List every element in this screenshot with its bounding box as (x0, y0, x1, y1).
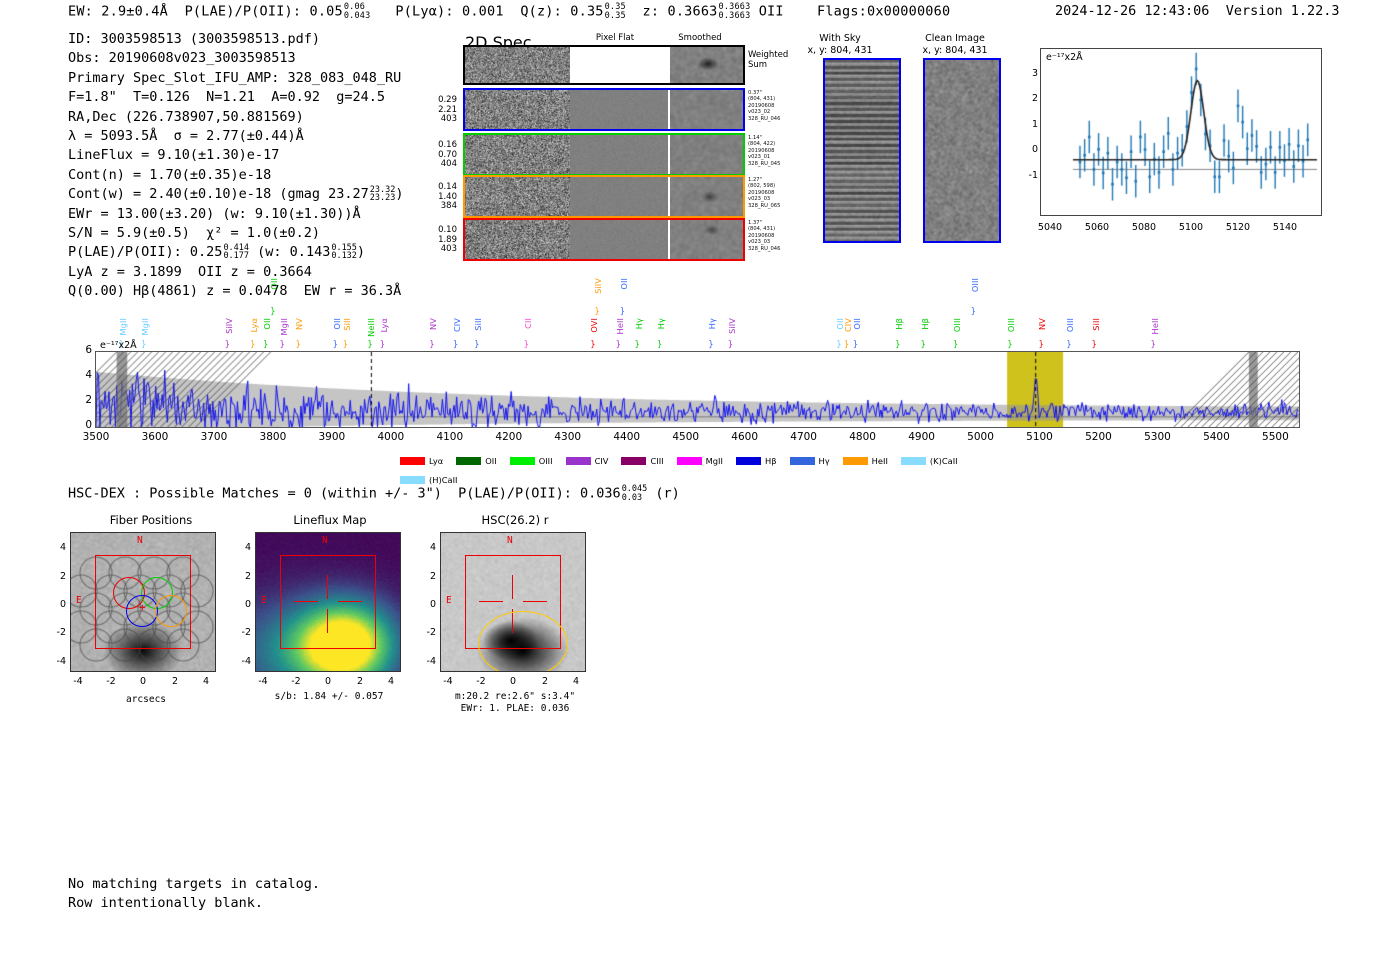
fiber-1-right-labels: 0.37"(804, 431)20190608v023_02328_RU_046 (748, 90, 800, 122)
spectrum-xtick: 5100 (1018, 431, 1062, 443)
footer-line-1: No matching targets in catalog. (68, 875, 320, 894)
legend-swatch (621, 457, 646, 465)
emission-label-CII: CII (523, 318, 533, 329)
legend-swatch (677, 457, 702, 465)
fp-ytick: 0 (48, 599, 66, 610)
legend-swatch (510, 457, 535, 465)
emission-label-MgII: MgII (279, 318, 289, 336)
footer-block: No matching targets in catalog. Row inte… (68, 875, 320, 914)
fiber-2-right-labels: 1.14"(804, 422)20190608v023_01328_RU_045 (748, 135, 800, 167)
emission-bracket: } (620, 307, 625, 317)
emission-label-SiII: SiII (1091, 318, 1101, 331)
emission-label-SiIV: SiIV (224, 318, 234, 334)
legend-item-MgII: MgII (677, 456, 723, 466)
fiber-3-pixelflat-image (570, 177, 668, 216)
emission-bracket: } (1007, 340, 1012, 350)
param-q-line: Q(0.00) Hβ(4861) z = 0.0478 EW r = 36.3Å (68, 282, 403, 301)
hsc-r-source-ellipse (478, 611, 568, 672)
spectrum-xtick: 3700 (192, 431, 236, 443)
fp-ytick: 4 (48, 542, 66, 553)
spectrum-xtick: 3600 (133, 431, 177, 443)
emission-label-CIV: CIV (452, 318, 462, 332)
param-primary-spec: Primary Spec_Slot_IFU_AMP: 328_083_048_R… (68, 69, 403, 88)
spectrum-xtick: 5500 (1253, 431, 1297, 443)
hs-xtick: 0 (503, 676, 523, 687)
line-profile-xtick: 5120 (1218, 222, 1258, 233)
emission-label-Lyα: Lyα (379, 318, 389, 332)
header-qz-range: 0.350.35 (605, 3, 626, 20)
fiber-positions-xlabel: arcsecs (76, 694, 216, 706)
emission-bracket: } (295, 340, 300, 350)
line-profile-ytick: 2 (1022, 93, 1038, 104)
fiber-2-pixelflat-image (570, 135, 668, 174)
lineflux-crosshair-right (338, 601, 362, 602)
spectrum-xtick: 3900 (310, 431, 354, 443)
panel-title-pixelflat: Pixel Flat (570, 33, 660, 43)
line-profile-ytick: 1 (1022, 119, 1038, 130)
line-profile-xtick: 5040 (1030, 222, 1070, 233)
fiber-circle-orange (155, 595, 187, 627)
spectrum-xtick: 4200 (487, 431, 531, 443)
legend-item-Lyα: Lyα (400, 456, 443, 466)
fp-ytick: -4 (48, 656, 66, 667)
lf-ytick: 2 (233, 571, 251, 582)
emission-label-NV: NV (294, 318, 304, 330)
emission-bracket: } (1066, 340, 1071, 350)
legend-label: HeII (872, 456, 888, 466)
fp-xtick: 4 (196, 676, 216, 687)
emission-label-OIII: OIII (970, 278, 980, 292)
fiber-2-smoothed-image (670, 135, 743, 174)
footer-line-2: Row intentionally blank. (68, 894, 320, 913)
param-plae-w-range: 0.1550.132 (331, 244, 357, 261)
fiber-1-2dspec-image (465, 90, 570, 129)
hs-ytick: 4 (418, 542, 436, 553)
param-lineflux: LineFlux = 9.10(±1.30)e-17 (68, 146, 403, 165)
emission-bracket: } (708, 340, 713, 350)
lineflux-crosshair-bottom (327, 609, 328, 633)
emission-bracket: } (270, 307, 275, 317)
emission-bracket: } (141, 340, 146, 350)
emission-label-Hγ: Hγ (707, 318, 717, 329)
line-profile-xtick: 5060 (1077, 222, 1117, 233)
spectrum-ytick: 4 (72, 369, 92, 381)
line-profile-ytick: -1 (1022, 170, 1038, 181)
fiber-3-2dspec-image (465, 177, 570, 216)
emission-label-MgII: MgII (118, 318, 128, 336)
fiber-3-right-labels: 1.27"(802, 598)20190608v023_03328_RU_065 (748, 177, 800, 209)
emission-bracket: } (225, 340, 230, 350)
fiber-4-left-labels: 0.101.89403 (425, 226, 457, 255)
fp-ytick: -2 (48, 627, 66, 638)
lf-xtick: 4 (381, 676, 401, 687)
cutout-title-with-sky: With Sky x, y: 804, 431 (790, 33, 890, 56)
spectrum-xtick: 4800 (841, 431, 885, 443)
fp-xtick: 0 (133, 676, 153, 687)
param-radec: RA,Dec (226.738907,50.881569) (68, 108, 403, 127)
emission-label-OII: OII (332, 318, 342, 330)
emission-label-OIII: OIII (1006, 318, 1016, 332)
header-version: Version 1.22.3 (1226, 3, 1340, 19)
hsc-r-panel: N E (440, 532, 586, 672)
line-profile-xtick: 5080 (1124, 222, 1164, 233)
lineflux-map-compass-n: N (322, 535, 328, 546)
emission-label-Lyα: Lyα (249, 318, 259, 332)
lf-xtick: -2 (286, 676, 306, 687)
fiber-4-pixelflat-image (570, 220, 668, 259)
emission-label-OIII: OIII (952, 318, 962, 332)
fiber-2-2dspec-image (465, 135, 570, 174)
line-profile-xtick: 5140 (1265, 222, 1305, 233)
emission-label-Hγ: Hγ (656, 318, 666, 329)
spectrum-ytick: 0 (72, 419, 92, 431)
legend-item-HeII: HeII (843, 456, 888, 466)
line-profile-plot: e⁻¹⁷x2Å (1040, 48, 1322, 216)
header-z: z: 0.3663 (643, 4, 718, 20)
param-redshifts: LyA z = 3.1899 OII z = 0.3664 (68, 263, 403, 282)
header-timestamp-version: 2024-12-26 12:43:06 Version 1.22.3 (1055, 3, 1340, 19)
legend-item-CIV: CIV (566, 456, 609, 466)
spectrum-legend: LyαOIIOIIICIVCIIIMgIIHβHγHeII(K)CaII(H)C… (400, 450, 1020, 488)
spectrum-unit: e⁻¹⁷x2Å (100, 340, 137, 351)
legend-label: (K)CaII (930, 456, 958, 466)
spectrum-xtick: 5400 (1194, 431, 1238, 443)
legend-swatch (790, 457, 815, 465)
legend-swatch (400, 476, 425, 484)
emission-bracket: } (1092, 340, 1097, 350)
lf-ytick: 0 (233, 599, 251, 610)
emission-label-OII: OII (269, 278, 279, 290)
param-snr-chi2: S/N = 5.9(±0.5) χ² = 1.0(±0.2) (68, 224, 403, 243)
legend-label: (H)CaII (429, 475, 457, 485)
fiber-strip-4 (463, 218, 745, 261)
line-profile-ytick: 0 (1022, 144, 1038, 155)
panel-title-hsc-r: HSC(26.2) r (435, 513, 595, 527)
spectrum-xtick: 4400 (605, 431, 649, 443)
lineflux-map-panel: N E (255, 532, 401, 672)
header-plae-range: 0.060.043 (344, 3, 371, 20)
param-seeing: F=1.8" T=0.126 N=1.21 A=0.92 g=24.5 (68, 88, 403, 107)
spectrum-xtick: 4500 (664, 431, 708, 443)
fiber-strip-2 (463, 133, 745, 176)
fp-ytick: 2 (48, 571, 66, 582)
fiber-2-left-labels: 0.160.70404 (425, 141, 457, 170)
emission-label-OII: OII (619, 278, 629, 290)
panel-title-lineflux-map: Lineflux Map (250, 513, 410, 527)
hs-ytick: -4 (418, 656, 436, 667)
legend-item-OII: OII (456, 456, 496, 466)
spectrum-xtick: 4700 (782, 431, 826, 443)
fiber-positions-panel: N E + (70, 532, 216, 672)
hs-ytick: 0 (418, 599, 436, 610)
emission-bracket: } (594, 307, 599, 317)
emission-label-NV: NV (1037, 318, 1047, 330)
spectrum-xtick: 3500 (74, 431, 118, 443)
spectrum-xtick: 4300 (546, 431, 590, 443)
lf-ytick: -4 (233, 656, 251, 667)
emission-bracket: } (616, 340, 621, 350)
legend-swatch (843, 457, 868, 465)
hs-xtick: 2 (535, 676, 555, 687)
header-qz: Q(z): 0.35 (520, 4, 603, 20)
emission-bracket: } (895, 340, 900, 350)
emission-bracket: } (836, 340, 841, 350)
hsc-crosshair-top (512, 575, 513, 599)
legend-label: OII (485, 456, 496, 466)
lf-ytick: 4 (233, 542, 251, 553)
lineflux-map-caption: s/b: 1.84 +/- 0.057 (258, 691, 400, 703)
weighted-sum-2dspec-image (465, 47, 570, 83)
hscdex-summary: HSC-DEX : Possible Matches = 0 (within +… (68, 485, 680, 502)
line-profile-xtick: 5100 (1171, 222, 1211, 233)
spectrum-xtick: 4000 (369, 431, 413, 443)
fiber-4-smoothed-image (670, 220, 743, 259)
weighted-sum-pixelflat-image (570, 47, 670, 83)
emission-label-OVI: OVI (589, 318, 599, 333)
legend-label: Lyα (429, 456, 443, 466)
emission-label-OII: OII (262, 318, 272, 330)
emission-bracket: } (953, 340, 958, 350)
emission-bracket: } (280, 340, 285, 350)
emission-label-HeII: HeII (615, 318, 625, 334)
emission-bracket: } (380, 340, 385, 350)
legend-swatch (736, 457, 761, 465)
emission-bracket: } (728, 340, 733, 350)
emission-label-Hβ: Hβ (920, 318, 930, 330)
legend-label: CIII (650, 456, 663, 466)
emission-bracket: } (1151, 340, 1156, 350)
emission-bracket: } (367, 340, 372, 350)
legend-item-Hγ: Hγ (790, 456, 830, 466)
hs-xtick: -2 (471, 676, 491, 687)
emission-label-SiIV: SiIV (593, 278, 603, 294)
emission-bracket: } (590, 340, 595, 350)
fp-xtick: -4 (68, 676, 88, 687)
emission-label-OIII: OIII (1065, 318, 1075, 332)
emission-label-Hγ: Hγ (634, 318, 644, 329)
emission-label-SiIV: SiIV (727, 318, 737, 334)
emission-bracket: } (453, 340, 458, 350)
lineflux-crosshair-top (327, 575, 328, 599)
emission-label-OII: OII (852, 318, 862, 330)
spectrum-xtick: 5200 (1077, 431, 1121, 443)
fiber-strip-3 (463, 175, 745, 218)
lineflux-map-compass-e: E (261, 595, 267, 606)
emission-label-SiII: SiII (473, 318, 483, 331)
hs-ytick: -2 (418, 627, 436, 638)
emission-bracket: } (343, 340, 348, 350)
header-flags: Flags:0x00000060 (817, 4, 950, 20)
emission-label-HeII: HeII (1150, 318, 1160, 334)
emission-bracket: } (333, 340, 338, 350)
emission-bracket: } (524, 340, 529, 350)
emission-label-Hβ: Hβ (894, 318, 904, 330)
fiber-positions-compass-n: N (137, 535, 143, 546)
legend-item-OIII: OIII (510, 456, 553, 466)
hsc-r-caption: m:20.2 re:2.6" s:3.4" EWr: 1. PLAE: 0.03… (440, 691, 590, 715)
fiber-3-smoothed-image (670, 177, 743, 216)
header-plae-label: P(LAE)/P(OII): 0.05 (185, 4, 343, 20)
hs-xtick: 4 (566, 676, 586, 687)
emission-bracket: } (853, 340, 858, 350)
fp-xtick: -2 (101, 676, 121, 687)
hs-ytick: 2 (418, 571, 436, 582)
lf-xtick: -4 (253, 676, 273, 687)
param-cont-w-range: 23.3223.23 (370, 186, 396, 203)
hsc-crosshair-left (479, 601, 503, 602)
legend-item-Hβ: Hβ (736, 456, 777, 466)
param-id: ID: 3003598513 (3003598513.pdf) (68, 30, 403, 49)
param-lambda-sigma: λ = 5093.5Å σ = 2.77(±0.44)Å (68, 127, 403, 146)
line-profile-canvas (1041, 49, 1321, 215)
emission-label-MgII: MgII (140, 318, 150, 336)
emission-bracket: } (921, 340, 926, 350)
fp-xtick: 2 (165, 676, 185, 687)
spectrum-xtick: 4900 (900, 431, 944, 443)
fiber-3-left-labels: 0.141.40384 (425, 183, 457, 212)
lineflux-crosshair-left (294, 601, 318, 602)
emission-bracket: } (429, 340, 434, 350)
legend-label: Hγ (819, 456, 830, 466)
legend-swatch (901, 457, 926, 465)
param-cont-n: Cont(n) = 1.70(±0.35)e-18 (68, 166, 403, 185)
hs-xtick: -4 (438, 676, 458, 687)
legend-label: MgII (706, 456, 723, 466)
emission-bracket: } (971, 307, 976, 317)
fiber-4-right-labels: 1.37"(804, 431)20190608v023_03328_RU_046 (748, 220, 800, 252)
emission-bracket: } (263, 340, 268, 350)
lf-xtick: 0 (318, 676, 338, 687)
param-cont-w: Cont(w) = 2.40(±0.10)e-18 (gmag 23.2723.… (68, 185, 403, 204)
spectrum-ytick: 6 (72, 344, 92, 356)
with-sky-image (825, 60, 899, 241)
hscdex-range: 0.0450.03 (622, 485, 648, 502)
legend-swatch (566, 457, 591, 465)
fiber-positions-target-marker: + (139, 601, 146, 614)
fiber-1-left-labels: 0.292.21403 (425, 96, 457, 125)
full-spectrum-canvas (96, 352, 1299, 427)
legend-item-CIII: CIII (621, 456, 663, 466)
panel-title-smoothed: Smoothed (655, 33, 745, 43)
emission-bracket: } (1038, 340, 1043, 350)
cutout-title-clean-image: Clean Image x, y: 804, 431 (900, 33, 1010, 56)
weighted-sum-smoothed-image (670, 47, 743, 83)
spectrum-xtick: 5000 (959, 431, 1003, 443)
cutout-with-sky (823, 58, 901, 243)
spectrum-xtick: 5300 (1135, 431, 1179, 443)
legend-swatch (400, 457, 425, 465)
fiber-4-2dspec-image (465, 220, 570, 259)
emission-label-SiII: SiII (342, 318, 352, 331)
spectrum-xtick: 4600 (723, 431, 767, 443)
emission-bracket: } (635, 340, 640, 350)
fiber-strip-1 (463, 88, 745, 131)
legend-item-(H)CaII: (H)CaII (400, 475, 457, 485)
emission-bracket: } (250, 340, 255, 350)
lf-xtick: 2 (350, 676, 370, 687)
legend-item-(K)CaII: (K)CaII (901, 456, 958, 466)
fiber-1-pixelflat-image (570, 90, 668, 129)
legend-swatch (456, 457, 481, 465)
weighted-sum-label: Weighted Sum (748, 50, 788, 70)
hsc-r-compass-n: N (507, 535, 513, 546)
emission-label-NV: NV (428, 318, 438, 330)
emission-bracket: } (657, 340, 662, 350)
fiber-positions-compass-e: E (76, 595, 82, 606)
param-plae-poii: P(LAE)/P(OII): 0.250.4140.177 (w: 0.1430… (68, 243, 403, 262)
emission-bracket: } (474, 340, 479, 350)
panel-title-fiber-positions: Fiber Positions (66, 513, 236, 527)
header-ew: EW: 2.9±0.4Å (68, 4, 168, 20)
lf-ytick: -2 (233, 627, 251, 638)
header-summary-line: EW: 2.9±0.4Å P(LAE)/P(OII): 0.050.060.04… (68, 3, 950, 20)
weighted-sum-strip (463, 45, 745, 85)
header-datetime: 2024-12-26 12:43:06 (1055, 3, 1209, 19)
legend-label: Hβ (765, 456, 777, 466)
header-z-range: 0.36630.3663 (719, 3, 751, 20)
hsc-r-compass-e: E (446, 595, 452, 606)
param-plae-range: 0.4140.177 (223, 244, 249, 261)
emission-label-NeIII: NeIII (366, 318, 376, 337)
spectrum-xtick: 4100 (428, 431, 472, 443)
fiber-1-smoothed-image (670, 90, 743, 129)
spectrum-ytick: 2 (72, 394, 92, 406)
spectrum-xtick: 3800 (251, 431, 295, 443)
parameter-block: ID: 3003598513 (3003598513.pdf) Obs: 201… (68, 30, 403, 302)
hsc-crosshair-right (523, 601, 547, 602)
clean-image (925, 60, 999, 241)
cutout-clean-image (923, 58, 1001, 243)
param-obs: Obs: 20190608v023_3003598513 (68, 49, 403, 68)
legend-label: CIV (595, 456, 609, 466)
legend-label: OIII (539, 456, 553, 466)
full-spectrum-plot (95, 351, 1300, 428)
param-ewr: EWr = 13.00(±3.20) (w: 9.10(±1.30))Å (68, 205, 403, 224)
header-z-species: OII (759, 4, 784, 20)
header-plya: P(Lyα): 0.001 (395, 4, 503, 20)
emission-bracket: } (844, 340, 849, 350)
line-profile-ytick: 3 (1022, 68, 1038, 79)
